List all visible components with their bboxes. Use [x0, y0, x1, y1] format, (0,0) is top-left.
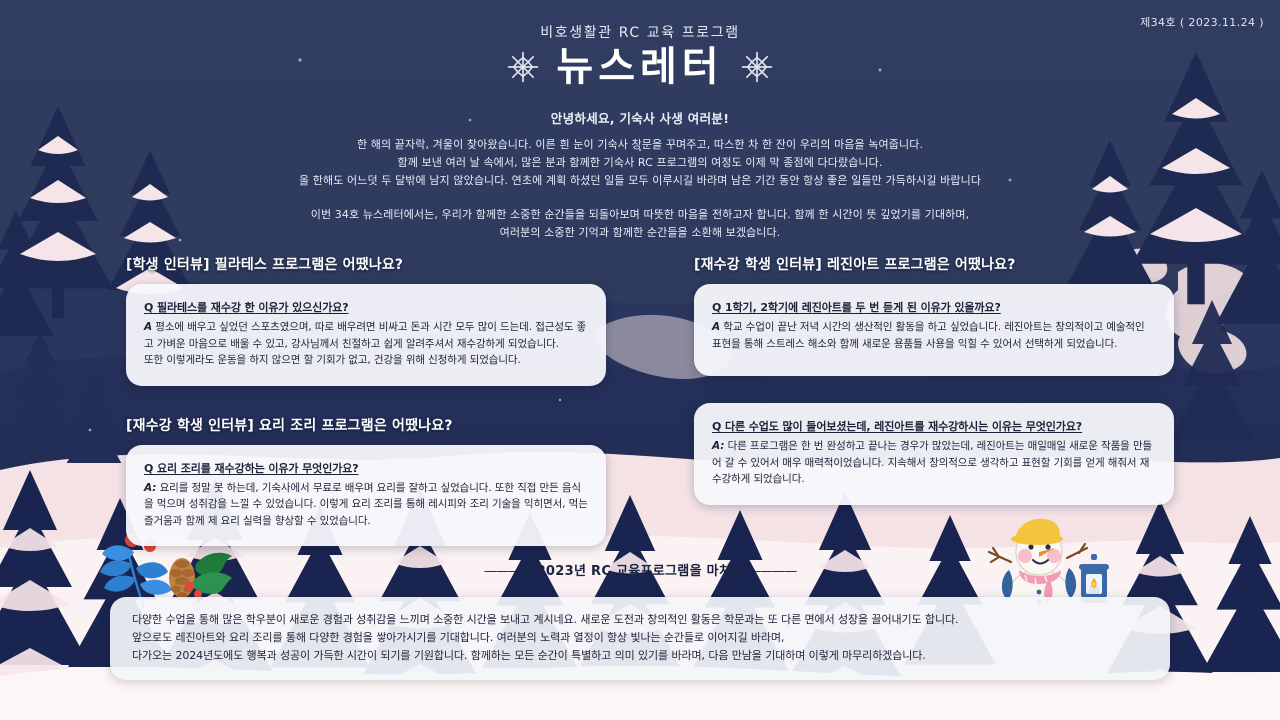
- section-heading-pilates: [학생 인터뷰] 필라테스 프로그램은 어땠나요?: [126, 254, 606, 274]
- closing-divider: ———— 2023년 RC 교육프로그램을 마치며 ————: [0, 560, 1280, 579]
- masthead-kicker: 비호생활관 RC 교육 프로그램: [0, 22, 1280, 42]
- column-gap: [694, 376, 1174, 403]
- answer-text: A 평소에 배우고 싶었던 스포츠였으며, 따로 배우려면 비싸고 돈과 시간 …: [144, 319, 588, 352]
- footer-line-3: 다가오는 2024년도에도 행복과 성공이 가득한 시간이 되기를 기원합니다.…: [132, 647, 1148, 665]
- snowflake-icon: [740, 50, 774, 84]
- divider-dash-right: ————: [748, 564, 796, 579]
- snowflake-icon: [506, 50, 540, 84]
- masthead: 비호생활관 RC 교육 프로그램 뉴스레터: [0, 22, 1280, 88]
- answer-body: 요리를 정말 못 하는데, 기숙사에서 무료로 배우며 요리를 잘하고 싶었습니…: [144, 482, 588, 527]
- intro-line-4: 이번 34호 뉴스레터에서는, 우리가 함께한 소중한 순간들을 되돌아보며 따…: [0, 206, 1280, 224]
- intro-line-3: 올 한해도 어느덧 두 달밖에 남지 않았습니다. 연초에 계획 하셨던 일들 …: [0, 172, 1280, 190]
- qa-block: Q 다른 수업도 많이 들어보셨는데, 레진아트를 재수강하시는 이유는 무엇인…: [712, 418, 1156, 488]
- answer-text: A: 다른 프로그램은 한 번 완성하고 끝나는 경우가 많았는데, 레진아트는…: [712, 438, 1156, 488]
- card-cooking-interview: Q 요리 조리를 재수강하는 이유가 무엇인가요? A: 요리를 정말 못 하는…: [126, 445, 606, 547]
- right-column: [재수강 학생 인터뷰] 레진아트 프로그램은 어땠나요? Q 1학기, 2학기…: [694, 254, 1174, 505]
- closing-label: 2023년 RC 교육프로그램을 마치며: [537, 564, 744, 579]
- question-text: Q 필라테스를 재수강 한 이유가 있으신가요?: [144, 299, 588, 315]
- answer-marker: A:: [712, 440, 724, 452]
- masthead-title-row: 뉴스레터: [0, 46, 1280, 88]
- intro-block: 안녕하세요, 기숙사 사생 여러분! 한 해의 끝자락, 겨울이 찾아왔습니다.…: [0, 108, 1280, 242]
- question-text: Q 다른 수업도 많이 들어보셨는데, 레진아트를 재수강하시는 이유는 무엇인…: [712, 418, 1156, 434]
- footer-line-1: 다양한 수업을 통해 많은 학우분이 새로운 경험과 성취감을 느끼며 소중한 …: [132, 611, 1148, 629]
- answer-marker: A: [144, 321, 152, 333]
- question-text: Q 요리 조리를 재수강하는 이유가 무엇인가요?: [144, 460, 588, 476]
- intro-line-5: 여러분의 소중한 기억과 함께한 순간들을 소환해 보겠습니다.: [0, 224, 1280, 242]
- qa-block: Q 필라테스를 재수강 한 이유가 있으신가요? A 평소에 배우고 싶었던 스…: [144, 299, 588, 369]
- page-title: 뉴스레터: [556, 46, 723, 88]
- issue-number: 제34호 ( 2023.11.24 ): [1140, 14, 1264, 30]
- closing-message-card: 다양한 수업을 통해 많은 학우분이 새로운 경험과 성취감을 느끼며 소중한 …: [110, 597, 1170, 680]
- left-column: [학생 인터뷰] 필라테스 프로그램은 어땠나요? Q 필라테스를 재수강 한 …: [126, 254, 606, 546]
- divider-dash-left: ————: [484, 564, 532, 579]
- intro-line-2: 함께 보낸 여러 날 속에서, 많은 분과 함께한 기숙사 RC 프로그램의 여…: [0, 154, 1280, 172]
- answer-body: 다른 프로그램은 한 번 완성하고 끝나는 경우가 많았는데, 레진아트는 매일…: [712, 440, 1152, 485]
- qa-block: Q 1학기, 2학기에 레진아트를 두 번 듣게 된 이유가 있을까요? A 학…: [712, 299, 1156, 352]
- intro-line-1: 한 해의 끝자락, 겨울이 찾아왔습니다. 이른 흰 눈이 기숙사 창문을 꾸며…: [0, 136, 1280, 154]
- section-heading-resinart: [재수강 학생 인터뷰] 레진아트 프로그램은 어땠나요?: [694, 254, 1174, 274]
- card-pilates-interview: Q 필라테스를 재수강 한 이유가 있으신가요? A 평소에 배우고 싶었던 스…: [126, 284, 606, 386]
- answer-marker: A:: [144, 482, 156, 494]
- answer-body: 평소에 배우고 싶었던 스포츠였으며, 따로 배우려면 비싸고 돈과 시간 모두…: [144, 321, 586, 350]
- answer-extra: 또한 이렇게라도 운동을 하지 않으면 할 기회가 없고, 건강을 위해 신청하…: [144, 352, 588, 369]
- answer-text: A: 요리를 정말 못 하는데, 기숙사에서 무료로 배우며 요리를 잘하고 싶…: [144, 480, 588, 530]
- question-text: Q 1학기, 2학기에 레진아트를 두 번 듣게 된 이유가 있을까요?: [712, 299, 1156, 315]
- card-resinart-interview-1: Q 1학기, 2학기에 레진아트를 두 번 듣게 된 이유가 있을까요? A 학…: [694, 284, 1174, 376]
- answer-marker: A: [712, 321, 720, 333]
- card-resinart-interview-2: Q 다른 수업도 많이 들어보셨는데, 레진아트를 재수강하시는 이유는 무엇인…: [694, 403, 1174, 505]
- qa-block: Q 요리 조리를 재수강하는 이유가 무엇인가요? A: 요리를 정말 못 하는…: [144, 460, 588, 530]
- section-heading-cooking: [재수강 학생 인터뷰] 요리 조리 프로그램은 어땠나요?: [126, 415, 606, 435]
- intro-greeting: 안녕하세요, 기숙사 사생 여러분!: [0, 108, 1280, 127]
- footer-line-2: 앞으로도 레진아트와 요리 조리를 통해 다양한 경험을 쌓아가시기를 기대합니…: [132, 629, 1148, 647]
- answer-body: 학교 수업이 끝난 저녁 시간의 생산적인 활동을 하고 싶었습니다. 레진아트…: [712, 321, 1145, 350]
- answer-text: A 학교 수업이 끝난 저녁 시간의 생산적인 활동을 하고 싶었습니다. 레진…: [712, 319, 1156, 352]
